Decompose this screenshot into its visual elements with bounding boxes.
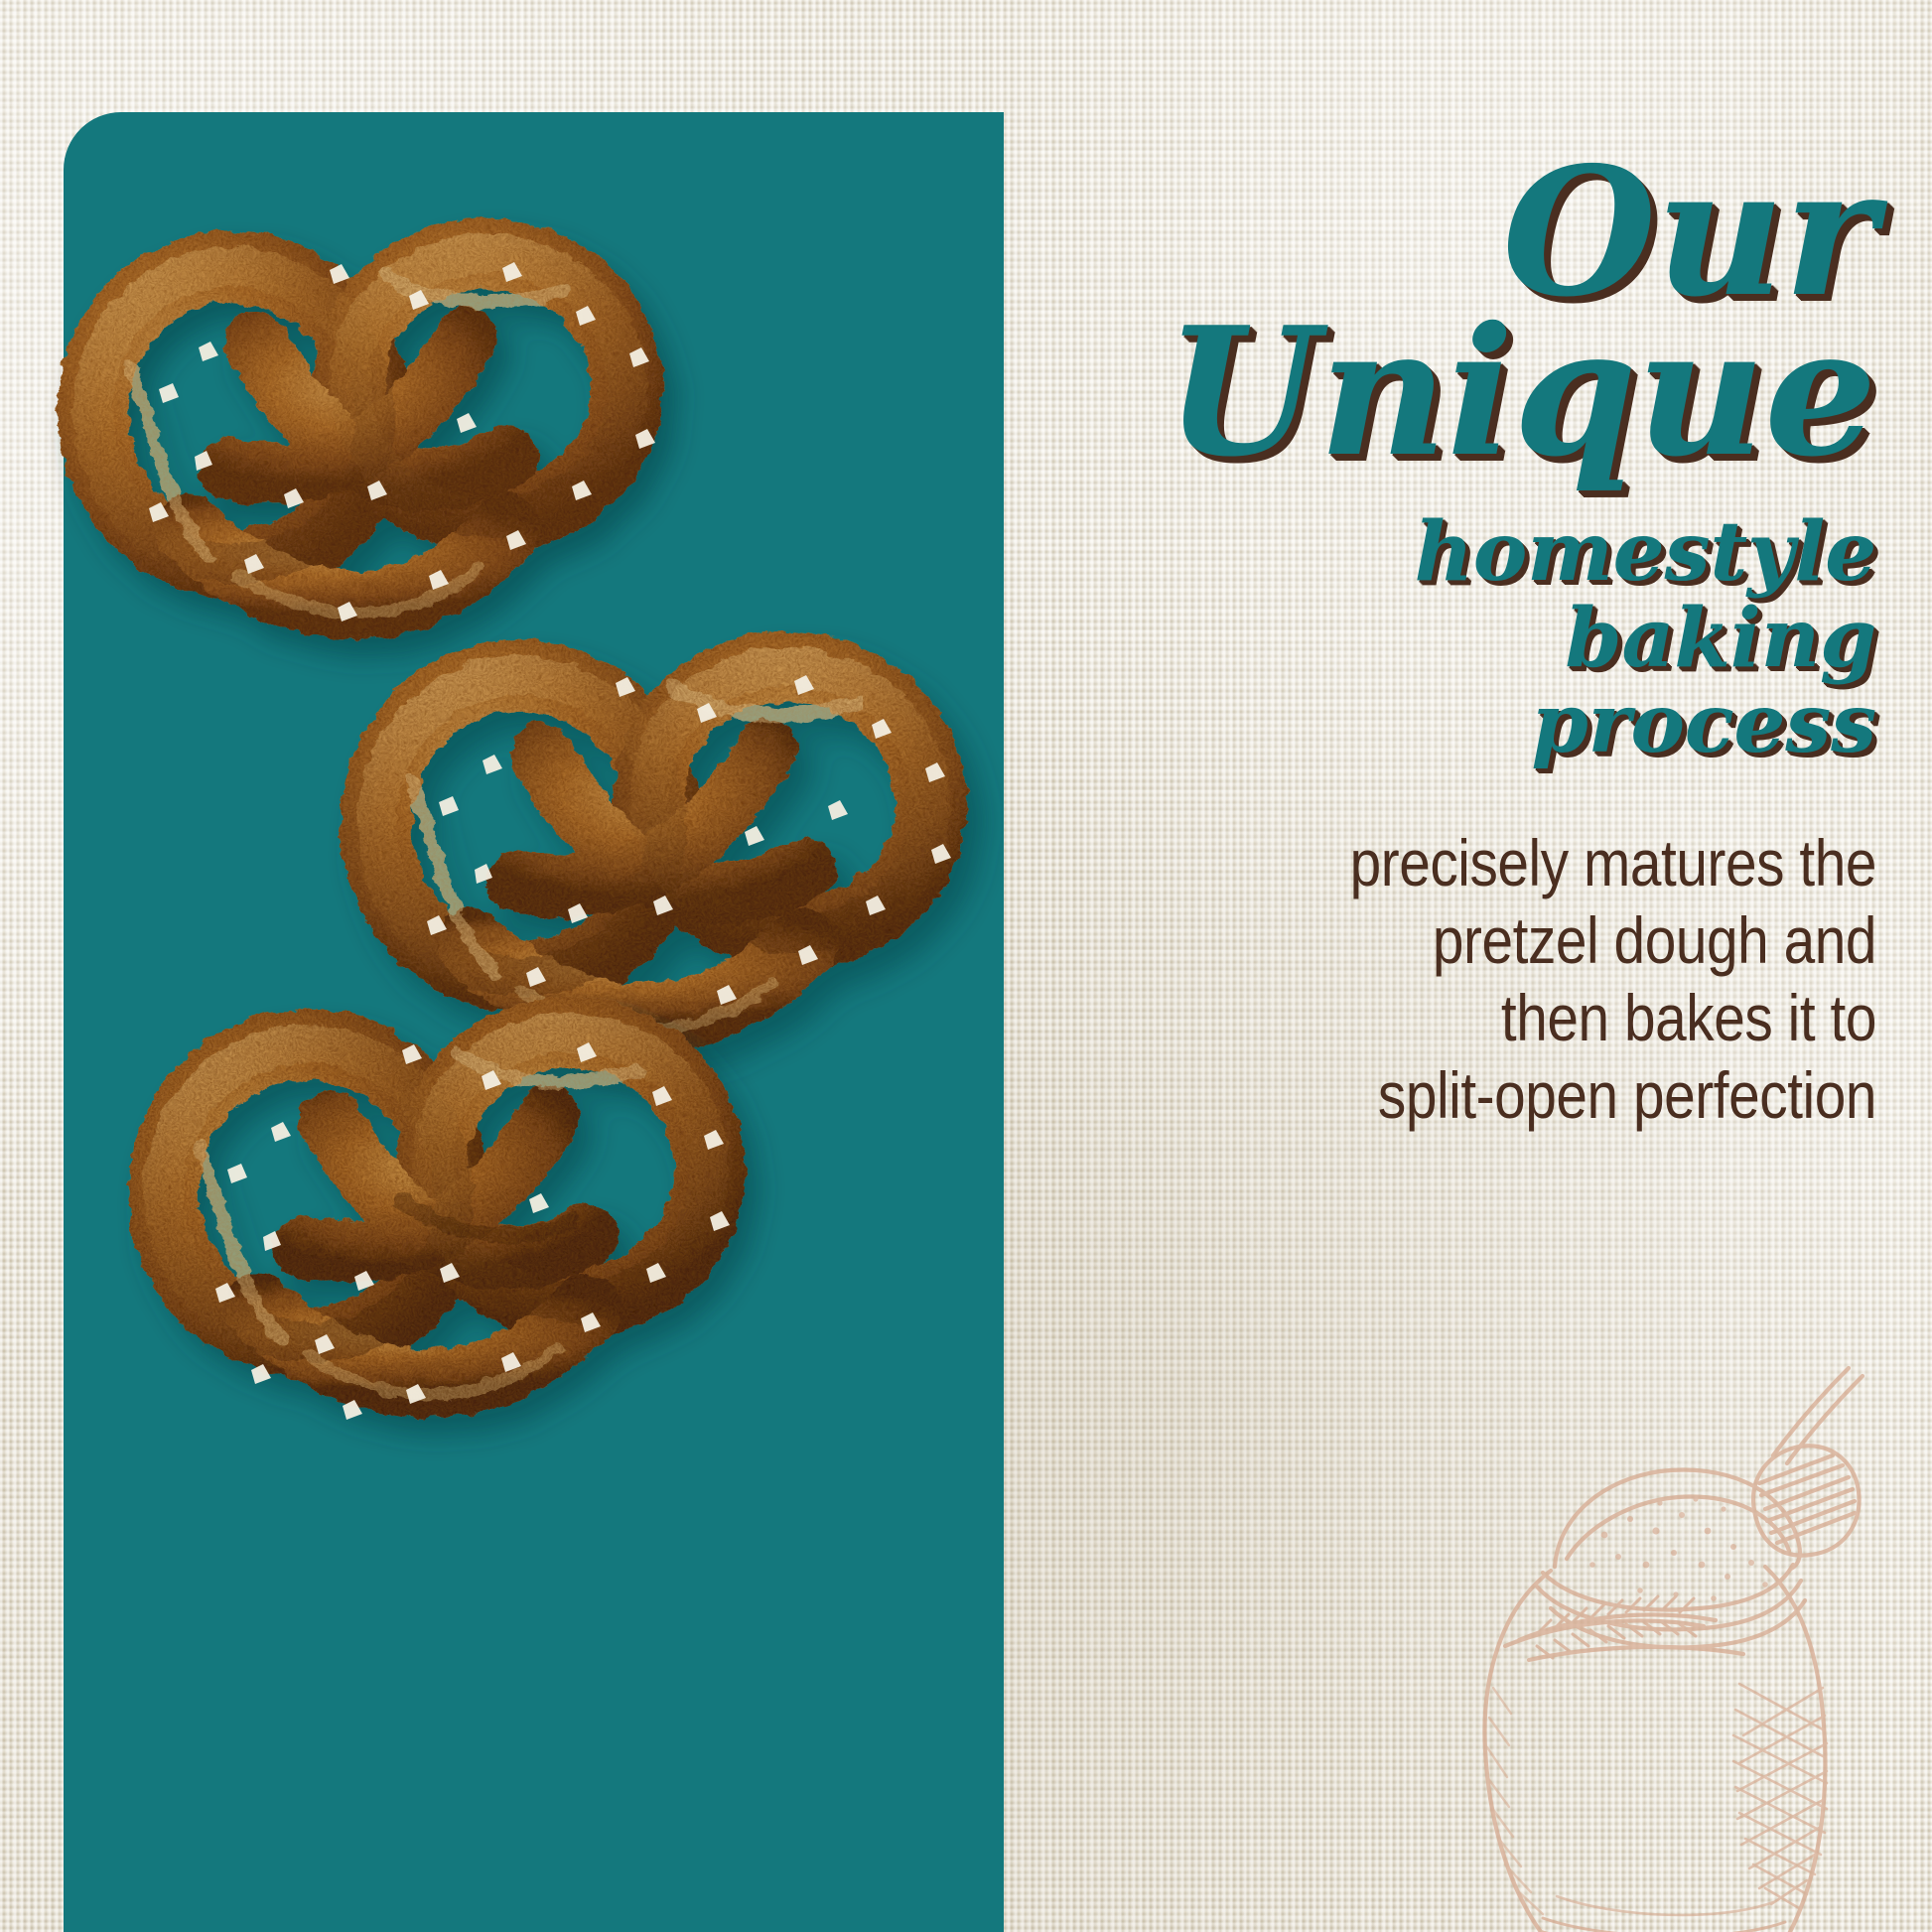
body-copy-line: then bakes it to <box>1108 980 1876 1057</box>
subheadline-line-homestyle: homestyle <box>983 509 1876 596</box>
body-copy-block: precisely matures the pretzel dough and … <box>1108 825 1876 1135</box>
subheadline-line-process: process <box>983 681 1876 767</box>
body-copy-line: pretzel dough and <box>1108 902 1876 980</box>
teal-product-panel <box>64 112 1004 1932</box>
headline-block: Our Unique <box>983 149 1876 476</box>
flour-sack-icon <box>1307 1360 1932 1932</box>
body-copy-line: precisely matures the <box>1108 825 1876 902</box>
marketing-copy-column: Our Unique homestyle baking process prec… <box>983 149 1876 1135</box>
subheadline-line-baking: baking <box>983 596 1876 682</box>
body-copy-line: split-open perfection <box>1108 1057 1876 1135</box>
headline-line-unique: Unique <box>983 309 1876 475</box>
subheadline-block: homestyle baking process <box>983 509 1876 768</box>
